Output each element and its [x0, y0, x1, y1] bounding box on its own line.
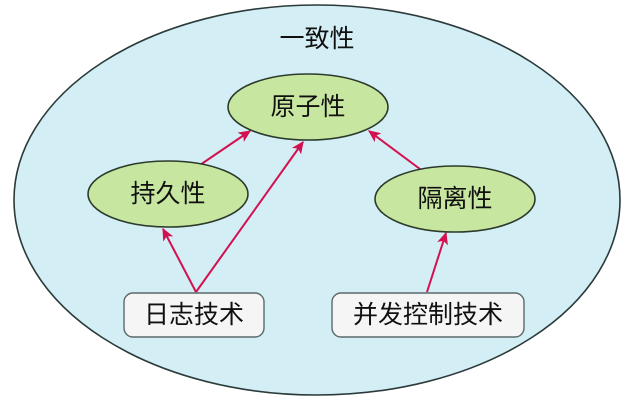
concurrency-control-box-label: 并发控制技术 — [353, 300, 503, 329]
diagram-canvas: 一致性 原子性 持久性 隔离性 日志技术 — [0, 0, 639, 405]
logging-technique-box[interactable]: 日志技术 — [124, 293, 264, 337]
logging-technique-box-label: 日志技术 — [144, 300, 244, 329]
isolation-node-label: 隔离性 — [417, 184, 492, 213]
isolation-node[interactable]: 隔离性 — [375, 166, 535, 232]
atomicity-node[interactable]: 原子性 — [228, 74, 388, 140]
concurrency-control-box[interactable]: 并发控制技术 — [332, 293, 524, 337]
concept-diagram: 一致性 原子性 持久性 隔离性 日志技术 — [0, 0, 639, 405]
durability-node-label: 持久性 — [130, 179, 205, 208]
consistency-container-label: 一致性 — [279, 24, 354, 53]
atomicity-node-label: 原子性 — [270, 92, 345, 121]
durability-node[interactable]: 持久性 — [88, 161, 248, 227]
